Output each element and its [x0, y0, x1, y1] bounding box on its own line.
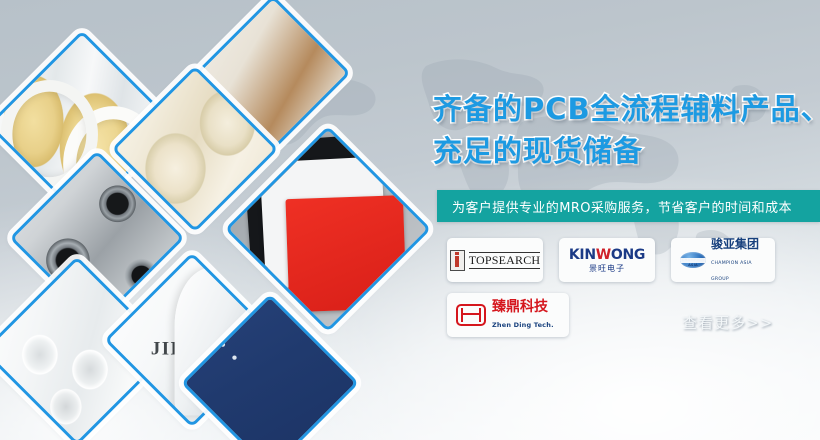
- kinwong-en-accent: W: [596, 247, 611, 263]
- logo-zhen-ding[interactable]: 臻鼎科技 Zhen Ding Tech.: [447, 293, 569, 337]
- zhen-ding-mark-icon: [456, 304, 486, 326]
- champion-asia-globe-text: CHAMPION ASIA: [680, 258, 706, 263]
- kinwong-cn-label: 景旺电子: [569, 265, 645, 273]
- logo-champion-asia[interactable]: CHAMPION ASIA 骏亚集团 CHAMPION ASIA GROUP: [671, 238, 775, 282]
- subtitle-bar: 为客户提供专业的MRO采购服务，节省客户的时间和成本: [437, 190, 820, 222]
- kinwong-en-tail: ONG: [611, 247, 645, 263]
- headline-line-1: 齐备的PCB全流程辅料产品、: [433, 88, 820, 130]
- zhen-ding-en-label: Zhen Ding Tech.: [492, 321, 554, 329]
- sheet-red: [285, 194, 407, 312]
- kinwong-en-head: KIN: [569, 247, 596, 263]
- product-tile-collage: JIE: [0, 28, 440, 440]
- headline: 齐备的PCB全流程辅料产品、 充足的现货储备: [433, 88, 820, 172]
- zhen-ding-cn-label: 臻鼎科技: [492, 299, 548, 315]
- logo-kinwong[interactable]: KINWONG 景旺电子: [559, 238, 655, 282]
- subtitle-text: 为客户提供专业的MRO采购服务，节省客户的时间和成本: [437, 197, 792, 216]
- kinwong-wordmark: KINWONG: [569, 248, 645, 262]
- champion-asia-cn-label: 骏亚集团: [711, 237, 759, 251]
- topsearch-mark-icon: [450, 250, 465, 271]
- headline-line-2: 充足的现货储备: [433, 130, 820, 172]
- promo-banner: JIE 齐备的PCB全流程辅料产品、 充足的现货储备 为客户提供专业的MRO采购…: [0, 0, 820, 440]
- champion-asia-globe-icon: CHAMPION ASIA: [680, 252, 706, 268]
- client-logo-row-1: TOPSEARCH KINWONG 景旺电子 CHAMPION ASIA 骏亚集…: [447, 238, 807, 282]
- topsearch-label: TOPSEARCH: [469, 252, 541, 269]
- view-more-link[interactable]: 查看更多>>: [682, 312, 773, 333]
- champion-asia-en-label: CHAMPION ASIA GROUP: [711, 261, 752, 282]
- logo-topsearch[interactable]: TOPSEARCH: [447, 238, 543, 282]
